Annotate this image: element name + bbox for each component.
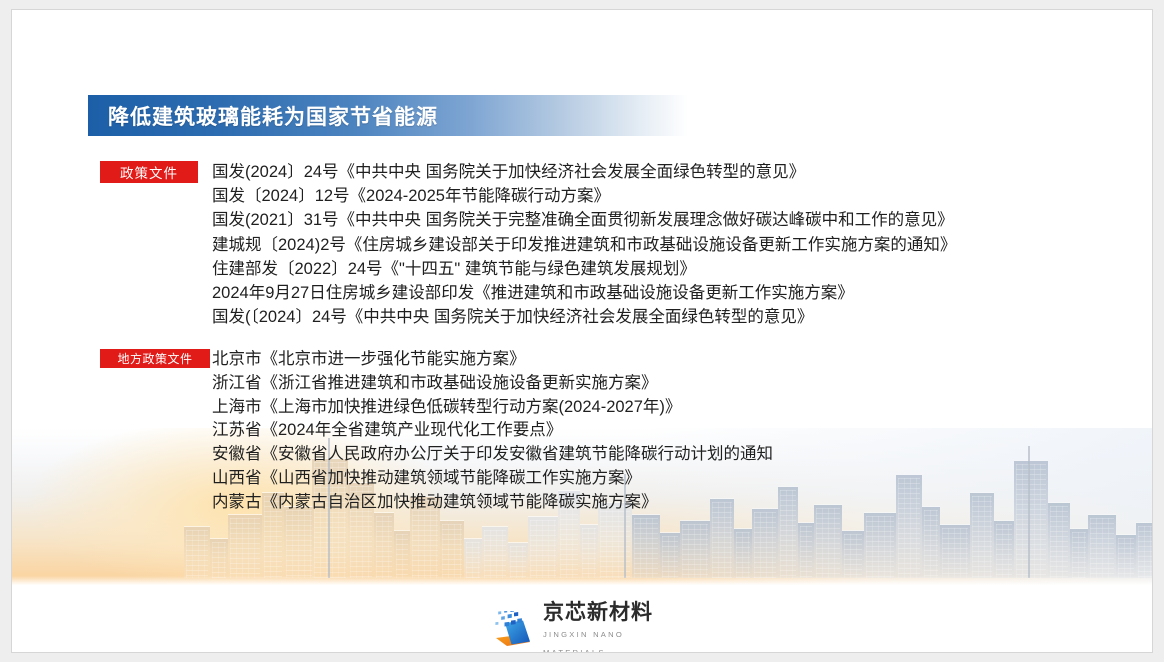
list-item: 国发〔2024〕12号《2024-2025年节能降碳行动方案》 <box>212 184 956 208</box>
list-item: 安徽省《安徽省人民政府办公厅关于印发安徽省建筑节能降碳行动计划的通知 <box>212 443 773 467</box>
list-item: 内蒙古《内蒙古自治区加快推动建筑领域节能降碳实施方案》 <box>212 491 773 515</box>
list-item: 浙江省《浙江省推进建筑和市政基础设施设备更新实施方案》 <box>212 372 773 396</box>
list-item: 国发(2024〕24号《中共中央 国务院关于加快经济社会发展全面绿色转型的意见》 <box>212 160 956 184</box>
national-policy-list: 国发(2024〕24号《中共中央 国务院关于加快经济社会发展全面绿色转型的意见》… <box>212 160 956 329</box>
company-logo: 京芯新材料 JINGXIN NANO MATERIALS <box>490 610 680 652</box>
skyline-bottom-fade <box>12 576 1152 586</box>
logo-mark-icon <box>490 611 536 651</box>
logo-name-cn: 京芯新材料 <box>543 601 653 624</box>
logo-name-en: JINGXIN NANO MATERIALS <box>543 630 624 653</box>
list-item: 2024年9月27日住房城乡建设部印发《推进建筑和市政基础设施设备更新工作实施方… <box>212 281 956 305</box>
section-badge-national-policy: 政策文件 <box>100 161 198 183</box>
local-policy-list: 北京市《北京市进一步强化节能实施方案》 浙江省《浙江省推进建筑和市政基础设施设备… <box>212 348 773 515</box>
list-item: 国发(〔2024〕24号《中共中央 国务院关于加快经济社会发展全面绿色转型的意见… <box>212 305 956 329</box>
list-item: 上海市《上海市加快推进绿色低碳转型行动方案(2024-2027年)》 <box>212 396 773 420</box>
slide-canvas: 降低建筑玻璃能耗为国家节省能源 政策文件 国发(2024〕24号《中共中央 国务… <box>11 9 1153 653</box>
list-item: 江苏省《2024年全省建筑产业现代化工作要点》 <box>212 419 773 443</box>
page-title: 降低建筑玻璃能耗为国家节省能源 <box>88 101 438 131</box>
list-item: 国发(2021〕31号《中共中央 国务院关于完整准确全面贯彻新发展理念做好碳达峰… <box>212 208 956 232</box>
list-item: 北京市《北京市进一步强化节能实施方案》 <box>212 348 773 372</box>
list-item: 建城规〔2024)2号《住房城乡建设部关于印发推进建筑和市政基础设施设备更新工作… <box>212 233 956 257</box>
slide-title-bar: 降低建筑玻璃能耗为国家节省能源 <box>88 95 688 136</box>
logo-wordmark: 京芯新材料 JINGXIN NANO MATERIALS <box>543 602 680 653</box>
list-item: 山西省《山西省加快推动建筑领域节能降碳工作实施方案》 <box>212 467 773 491</box>
section-badge-local-policy: 地方政策文件 <box>100 349 210 368</box>
list-item: 住建部发〔2022〕24号《"十四五" 建筑节能与绿色建筑发展规划》 <box>212 257 956 281</box>
